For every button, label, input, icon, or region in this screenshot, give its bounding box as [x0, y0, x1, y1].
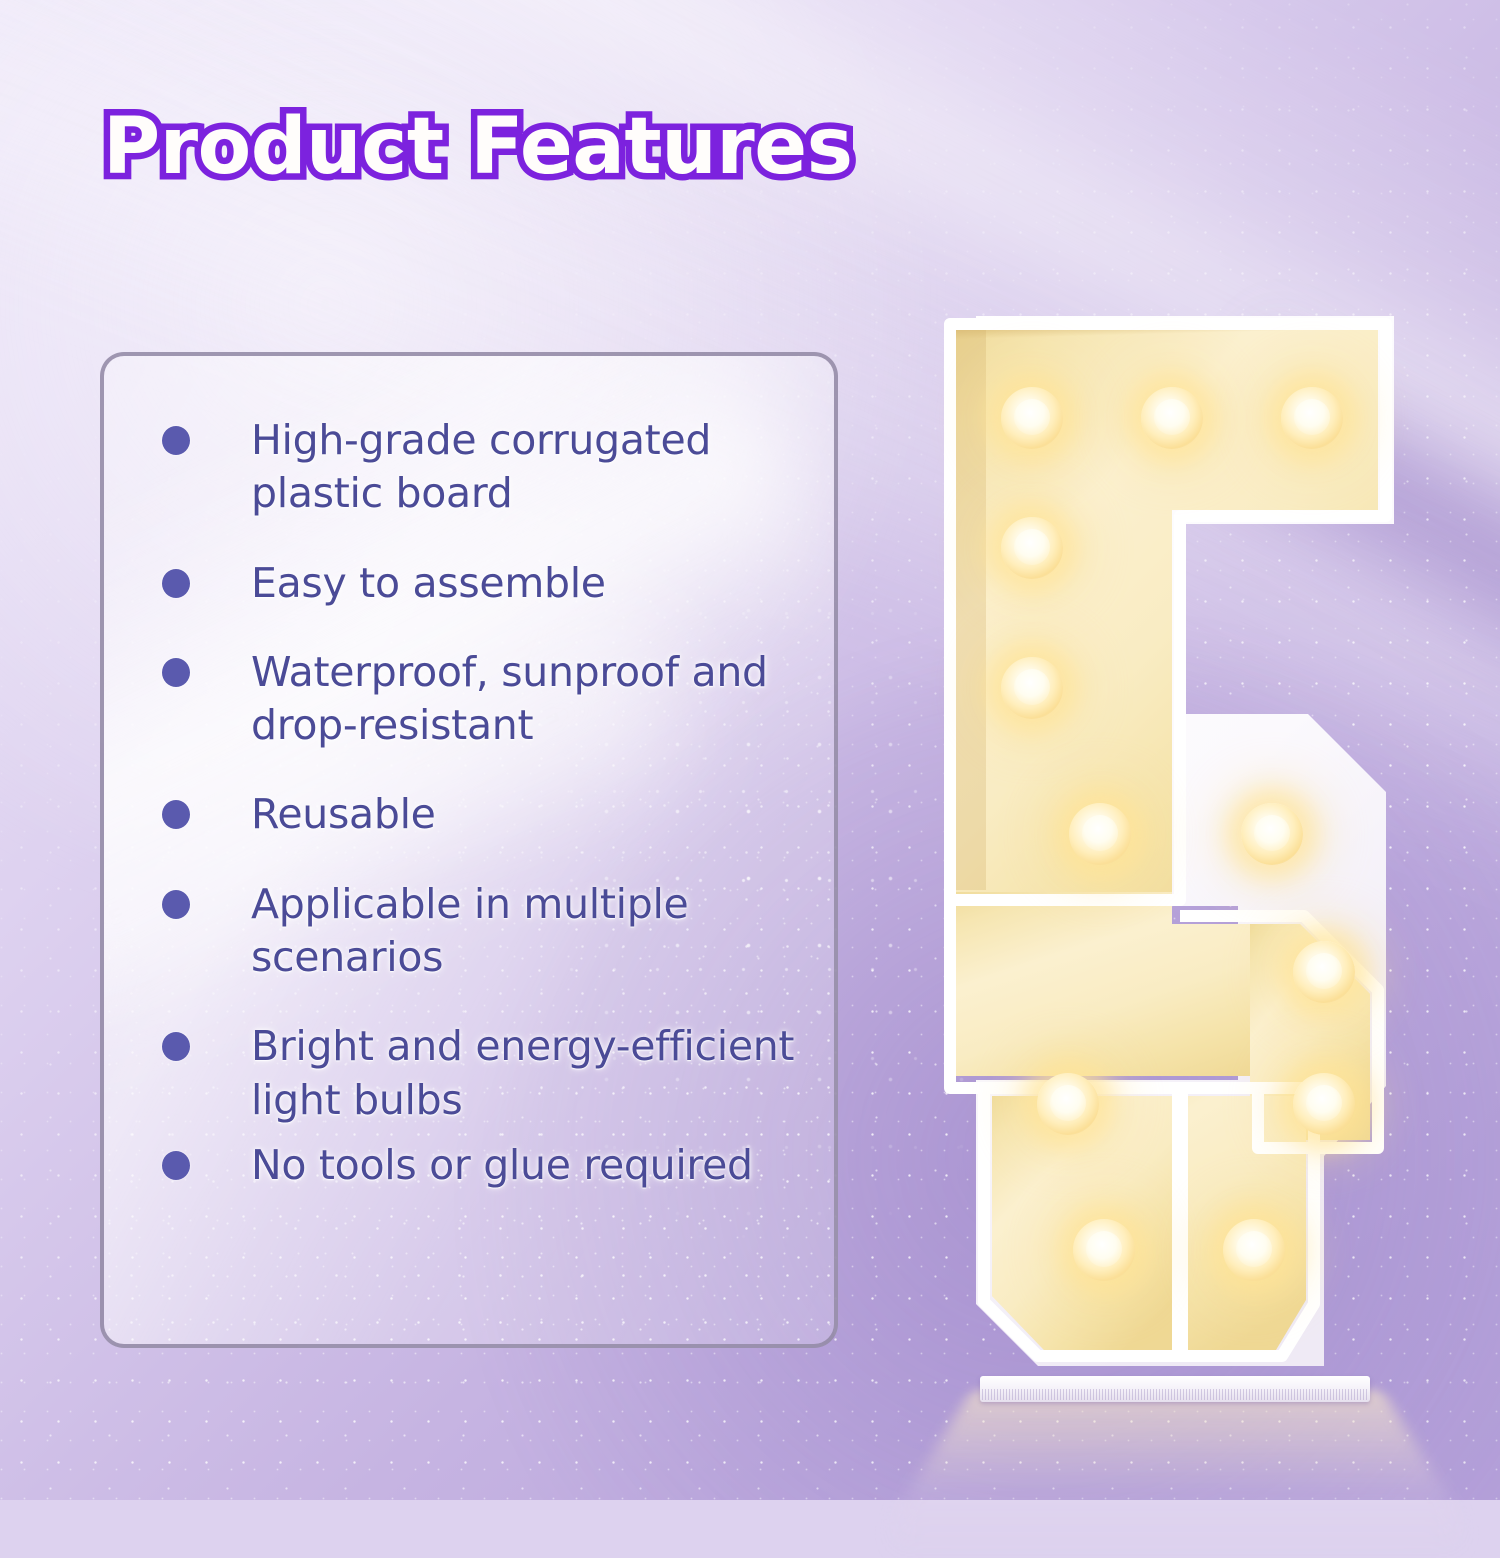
- list-item: Waterproof, sunproof and drop-resistant: [162, 646, 808, 753]
- feature-card: High-grade corrugated plastic board Easy…: [100, 352, 838, 1348]
- feature-text: Bright and energy-efficient light bulbs: [251, 1020, 808, 1127]
- bullet-icon: [162, 1151, 190, 1180]
- bullet-icon: [162, 1032, 190, 1061]
- feature-text: No tools or glue required: [251, 1139, 753, 1192]
- bullet-icon: [162, 800, 190, 829]
- list-item: Applicable in multiple scenarios: [162, 878, 808, 985]
- list-item: No tools or glue required: [162, 1139, 808, 1192]
- feature-text: Easy to assemble: [251, 557, 606, 610]
- bullet-icon: [162, 426, 190, 455]
- feature-text: Applicable in multiple scenarios: [251, 878, 808, 985]
- bullet-icon: [162, 658, 190, 687]
- list-item: Bright and energy-efficient light bulbs: [162, 1020, 808, 1127]
- product-base-corrugation: [982, 1389, 1368, 1400]
- list-item: High-grade corrugated plastic board: [162, 414, 808, 521]
- bullet-icon: [162, 890, 190, 919]
- feature-text: Waterproof, sunproof and drop-resistant: [251, 646, 808, 753]
- marquee-face-bottom-left-stub: [992, 1096, 1172, 1350]
- marquee-divider-bottom: [1172, 1090, 1188, 1354]
- marquee-inner-shadow-left: [956, 330, 986, 890]
- marquee-number-product: [920, 300, 1420, 1420]
- marquee-number-5-shape: [920, 300, 1420, 1420]
- marquee-inner-shadow-top: [956, 330, 1378, 386]
- page-title: Product Features: [103, 108, 853, 186]
- feature-text: High-grade corrugated plastic board: [251, 414, 808, 521]
- bullet-icon: [162, 569, 190, 598]
- list-item: Easy to assemble: [162, 557, 808, 610]
- feature-text: Reusable: [251, 788, 436, 841]
- feature-list: High-grade corrugated plastic board Easy…: [104, 356, 834, 1192]
- list-item: Reusable: [162, 788, 808, 841]
